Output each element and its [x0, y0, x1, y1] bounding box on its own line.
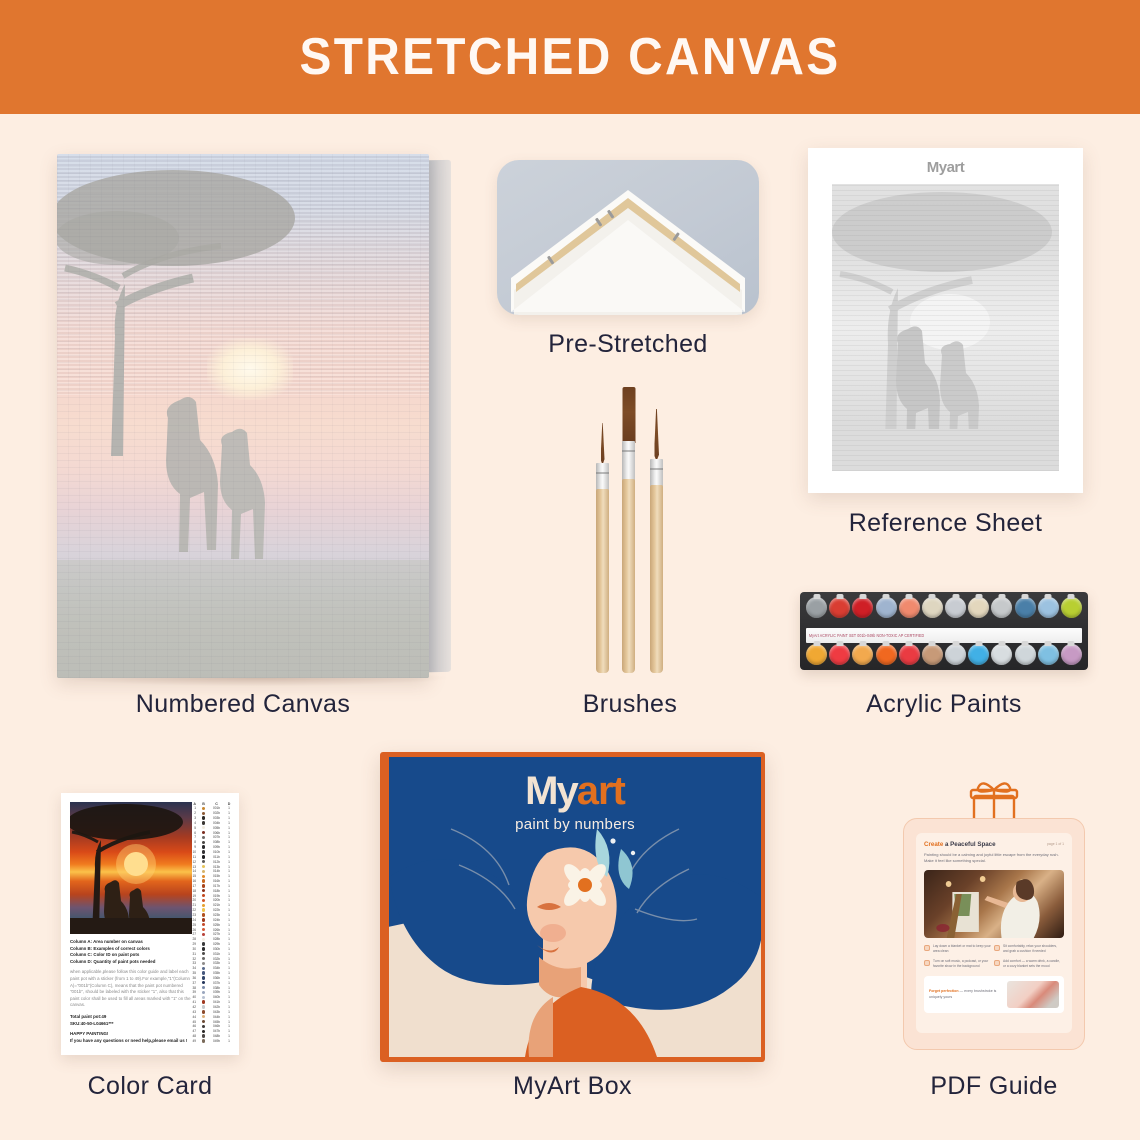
cc-quantity: 1 [227, 860, 231, 864]
cc-quantity: 1 [227, 821, 231, 825]
cc-color-swatch [201, 952, 206, 955]
cc-color-swatch [201, 981, 206, 984]
color-card-artwork [70, 802, 192, 934]
cc-color-id: 015b [211, 874, 222, 878]
cc-color-swatch [201, 986, 206, 989]
brush-round-medium [650, 409, 663, 673]
footer-accent: Forget perfection [929, 989, 959, 993]
cc-color-swatch [201, 865, 206, 868]
paint-pot [991, 597, 1012, 618]
caption-acrylic-paints: Acrylic Paints [800, 690, 1088, 719]
cc-color-id: 043b [211, 1010, 222, 1014]
cc-color-id: 030b [211, 947, 222, 951]
paint-pot [968, 644, 989, 665]
legend-column-b: Column B: Examples of correct colors [70, 946, 192, 953]
cc-quantity: 1 [227, 1024, 231, 1028]
paint-pot [1015, 597, 1036, 618]
paint-pot [1038, 597, 1059, 618]
acrylic-paints-image: MyArt ACRYLIC PAINT SET 001b-049b NON-TO… [800, 592, 1088, 670]
cc-area-number: 25 [191, 923, 196, 927]
paint-pot [899, 597, 920, 618]
cc-area-number: 14 [191, 869, 196, 873]
cc-color-id: 034b [211, 966, 222, 970]
pdf-guide-tip: Sit comfortably, relax your shoulders, a… [994, 944, 1064, 954]
legend-column-c: Column C: Color ID on paint pots [70, 952, 192, 959]
color-card-legend: Column A: Area number on canvas Column B… [70, 939, 192, 1045]
cc-quantity: 1 [227, 918, 231, 922]
cc-area-number: 8 [191, 840, 196, 844]
cc-color-id: 044b [211, 1015, 222, 1019]
paint-pot [922, 597, 943, 618]
cc-quantity: 1 [227, 952, 231, 956]
cc-color-id: 023b [211, 913, 222, 917]
cc-quantity: 1 [227, 1005, 231, 1009]
cc-color-id: 020b [211, 898, 222, 902]
cc-quantity: 1 [227, 986, 231, 990]
cc-color-id: 019b [211, 894, 222, 898]
paint-pot [806, 597, 827, 618]
logo-tagline: paint by numbers [389, 816, 761, 833]
cc-color-swatch [201, 947, 206, 950]
cc-quantity: 1 [227, 928, 231, 932]
cc-color-swatch [201, 860, 206, 863]
cc-area-number: 15 [191, 874, 196, 878]
cc-color-swatch [201, 971, 206, 974]
cc-area-number: 16 [191, 879, 196, 883]
canvas-wrapped-edge [429, 160, 451, 672]
tip-blanket-icon [924, 945, 930, 951]
pdf-guide-tip: Lay down a blanket or mat to keep your a… [924, 944, 994, 954]
cc-color-swatch [201, 913, 206, 916]
cc-quantity: 1 [227, 865, 231, 869]
pdf-guide-tips: Lay down a blanket or mat to keep your a… [924, 944, 1064, 974]
cc-color-swatch [201, 816, 206, 819]
cc-color-id: 002b [211, 811, 222, 815]
cc-quantity: 1 [227, 869, 231, 873]
cc-quantity: 1 [227, 1010, 231, 1014]
cc-color-id: 042b [211, 1005, 222, 1009]
paint-pot [922, 644, 943, 665]
cc-color-id: 022b [211, 908, 222, 912]
cc-color-id: 025b [211, 923, 222, 927]
cc-color-id: 014b [211, 869, 222, 873]
cc-quantity: 1 [227, 913, 231, 917]
cc-color-id: 006b [211, 831, 222, 835]
canvas-face [57, 154, 429, 678]
pre-stretched-image [497, 160, 759, 315]
cc-area-number: 18 [191, 889, 196, 893]
brush-flat-large [622, 387, 635, 673]
tip-posture-icon [994, 945, 1000, 951]
myart-box-front: Myart paint by numbers [389, 757, 761, 1057]
cc-color-swatch [201, 821, 206, 824]
pdf-guide-photo [924, 870, 1064, 938]
cc-color-id: 003b [211, 816, 222, 820]
total-paint-pots: Total paint pot:49 [70, 1014, 192, 1021]
logo-art-text: art [577, 769, 625, 813]
cc-quantity: 1 [227, 932, 231, 936]
brushes-image [578, 385, 682, 673]
cc-area-number: 11 [191, 855, 196, 859]
cc-color-id: 035b [211, 971, 222, 975]
cc-quantity: 1 [227, 937, 231, 941]
cc-color-swatch [201, 1005, 206, 1008]
cc-color-id: 024b [211, 918, 222, 922]
paint-tray-label-text: MyArt ACRYLIC PAINT SET 001b-049b NON-TO… [806, 633, 924, 638]
cc-color-id: 048b [211, 1034, 222, 1038]
cc-quantity: 1 [227, 1020, 231, 1024]
cc-quantity: 1 [227, 976, 231, 980]
cc-quantity: 1 [227, 1029, 231, 1033]
cc-quantity: 1 [227, 840, 231, 844]
logo-my-text: My [525, 769, 577, 813]
cc-color-swatch [201, 841, 206, 844]
cc-color-swatch [201, 831, 206, 834]
myart-box-logo: Myart paint by numbers [389, 769, 761, 833]
reference-sheet-image: Myart [808, 148, 1083, 493]
cc-color-id: 018b [211, 889, 222, 893]
cc-area-number: 22 [191, 908, 196, 912]
cc-color-id: 026b [211, 928, 222, 932]
pdf-guide-tip: Add comfort — a warm drink, a candle, or… [994, 959, 1064, 969]
cc-color-id: 039b [211, 990, 222, 994]
cc-quantity: 1 [227, 874, 231, 878]
pdf-guide-body: Painting should be a calming and joyful … [924, 852, 1064, 865]
color-card-table: A B C D 1001b12002b13003b14004b15005b160… [191, 802, 231, 1046]
cc-quantity: 1 [227, 894, 231, 898]
caption-pre-stretched: Pre-Stretched [497, 330, 759, 359]
cc-color-id: 017b [211, 884, 222, 888]
cc-color-swatch [201, 884, 206, 887]
cc-area-number: 19 [191, 894, 196, 898]
cc-quantity: 1 [227, 971, 231, 975]
cc-color-id: 012b [211, 860, 222, 864]
paint-pot [945, 644, 966, 665]
cc-quantity: 1 [227, 942, 231, 946]
cc-color-swatch [201, 1010, 206, 1013]
cc-quantity: 1 [227, 966, 231, 970]
paint-pot-row-bottom [806, 644, 1082, 674]
cc-color-swatch [201, 879, 206, 882]
paint-pot [1061, 644, 1082, 665]
paint-pot [1038, 644, 1059, 665]
brush-round-small [596, 423, 609, 673]
paint-pot [829, 644, 850, 665]
cc-color-swatch [201, 933, 206, 936]
cc-color-id: 013b [211, 865, 222, 869]
cc-quantity: 1 [227, 811, 231, 815]
page-header: STRETCHED CANVAS [0, 0, 1140, 114]
cc-color-swatch [201, 1020, 206, 1023]
pdf-guide-footer-photo [1007, 981, 1059, 1008]
cc-area-number: 2 [191, 811, 196, 815]
cc-quantity: 1 [227, 889, 231, 893]
cc-color-id: 007b [211, 835, 222, 839]
cc-color-swatch [201, 812, 206, 815]
reference-sheet-texture [832, 184, 1059, 471]
cc-quantity: 1 [227, 806, 231, 810]
gift-icon [966, 781, 1022, 821]
cc-color-swatch [201, 942, 206, 945]
tip-text: Add comfort — a warm drink, a candle, or… [1003, 959, 1061, 969]
legend-column-a: Column A: Area number on canvas [70, 939, 192, 946]
cc-color-swatch [201, 918, 206, 921]
cc-color-swatch [201, 855, 206, 858]
cc-area-number: 17 [191, 884, 196, 888]
cc-color-swatch [201, 1039, 206, 1042]
paint-pot-row-top [806, 597, 1082, 627]
cc-color-id: 028b [211, 937, 222, 941]
cc-color-id: 037b [211, 981, 222, 985]
cc-color-swatch [201, 938, 206, 941]
cc-color-id: 036b [211, 976, 222, 980]
cc-area-number: 5 [191, 826, 196, 830]
canvas-number-regions [57, 154, 429, 678]
cc-color-swatch [201, 1034, 206, 1037]
contact-text: If you have any questions or need help,p… [70, 1038, 192, 1045]
cc-color-swatch [201, 904, 206, 907]
cc-quantity: 1 [227, 835, 231, 839]
tip-text: Turn on soft music, a podcast, or your f… [933, 959, 991, 969]
cc-quantity: 1 [227, 850, 231, 854]
caption-brushes: Brushes [528, 690, 732, 719]
cc-color-id: 010b [211, 850, 222, 854]
cc-color-id: 033b [211, 961, 222, 965]
cc-color-id: 001b [211, 806, 222, 810]
reference-sheet-logo: Myart [808, 159, 1083, 176]
paint-pot [945, 597, 966, 618]
cc-color-id: 047b [211, 1029, 222, 1033]
cc-color-swatch [201, 962, 206, 965]
caption-numbered-canvas: Numbered Canvas [57, 690, 429, 719]
cc-quantity: 1 [227, 923, 231, 927]
cc-quantity: 1 [227, 957, 231, 961]
cc-quantity: 1 [227, 898, 231, 902]
caption-reference-sheet: Reference Sheet [808, 509, 1083, 538]
cc-color-swatch [201, 923, 206, 926]
cc-area-number: 24 [191, 918, 196, 922]
paint-pot [991, 644, 1012, 665]
caption-color-card: Color Card [40, 1072, 260, 1101]
paint-pot [829, 597, 850, 618]
cc-quantity: 1 [227, 990, 231, 994]
pdf-guide-footer: Forget perfection — every brushstroke is… [924, 976, 1064, 1013]
color-card-row: 49049b1 [191, 1039, 231, 1044]
cc-area-number: 4 [191, 821, 196, 825]
cc-area-number: 7 [191, 835, 196, 839]
happy-painting-text: HAPPY PAINTING! [70, 1031, 192, 1038]
cc-quantity: 1 [227, 879, 231, 883]
cc-quantity: 1 [227, 908, 231, 912]
cc-color-swatch [201, 976, 206, 979]
pdf-guide-title: Create a Peaceful Space [924, 841, 1064, 848]
cc-color-id: 021b [211, 903, 222, 907]
cc-quantity: 1 [227, 1034, 231, 1038]
cc-color-swatch [201, 1015, 206, 1018]
cc-color-swatch [201, 836, 206, 839]
page-title: STRETCHED CANVAS [300, 27, 841, 87]
cc-color-swatch [201, 967, 206, 970]
pdf-guide-image: page 1 of 1 Create a Peaceful Space Pain… [903, 818, 1085, 1050]
tip-text: Sit comfortably, relax your shoulders, a… [1003, 944, 1061, 954]
caption-pdf-guide: PDF Guide [903, 1072, 1085, 1101]
paint-pot [852, 644, 873, 665]
cc-quantity: 1 [227, 855, 231, 859]
cc-color-id: 046b [211, 1024, 222, 1028]
cc-color-id: 005b [211, 826, 222, 830]
cc-color-id: 009b [211, 845, 222, 849]
cc-color-swatch [201, 807, 206, 810]
pdf-guide-title-rest: a Peaceful Space [943, 841, 995, 848]
cc-area-number: 9 [191, 845, 196, 849]
cc-color-swatch [201, 845, 206, 848]
cc-color-swatch [201, 899, 206, 902]
cc-area-number: 6 [191, 831, 196, 835]
cc-color-id: 041b [211, 1000, 222, 1004]
cc-quantity: 1 [227, 816, 231, 820]
paint-tray-label-strip: MyArt ACRYLIC PAINT SET 001b-049b NON-TO… [806, 628, 1082, 643]
cc-color-swatch [201, 875, 206, 878]
cc-quantity: 1 [227, 995, 231, 999]
cc-color-id: 016b [211, 879, 222, 883]
color-card-note: when applicable,please follow this color… [70, 969, 192, 1009]
paint-pot [1015, 644, 1036, 665]
cc-quantity: 1 [227, 845, 231, 849]
myart-box-image: Myart paint by numbers [380, 752, 765, 1062]
cc-color-swatch [201, 1030, 206, 1033]
cc-color-id: 038b [211, 986, 222, 990]
cc-quantity: 1 [227, 981, 231, 985]
cc-area-number: 27 [191, 932, 196, 936]
cc-color-id: 008b [211, 840, 222, 844]
legend-column-d: Column D: Quantity of paint pots needed [70, 959, 192, 966]
paint-pot [899, 644, 920, 665]
canvas-corner-illustration [497, 160, 759, 315]
cc-area-number: 1 [191, 806, 196, 810]
pdf-guide-footer-text: Forget perfection — every brushstroke is… [929, 989, 1002, 1000]
pdf-guide-page-number: page 1 of 1 [1047, 842, 1064, 846]
tip-music-icon [924, 960, 930, 966]
tip-text: Lay down a blanket or mat to keep your a… [933, 944, 991, 954]
cc-color-swatch [201, 850, 206, 853]
cc-color-swatch [201, 889, 206, 892]
cc-color-swatch [201, 894, 206, 897]
cc-quantity: 1 [227, 1000, 231, 1004]
cc-color-swatch [201, 908, 206, 911]
cc-area-number: 10 [191, 850, 196, 854]
numbered-canvas-image [57, 154, 455, 678]
pdf-guide-page: page 1 of 1 Create a Peaceful Space Pain… [916, 833, 1072, 1033]
paint-pot [876, 597, 897, 618]
sku-text: SKU:40-50-L04661*** [70, 1021, 192, 1028]
cc-quantity: 1 [227, 826, 231, 830]
cc-quantity: 1 [227, 831, 231, 835]
paint-pot [852, 597, 873, 618]
caption-myart-box: MyArt Box [380, 1072, 765, 1101]
cc-quantity: 1 [227, 947, 231, 951]
cc-area-number: 12 [191, 860, 196, 864]
cc-color-id: 031b [211, 952, 222, 956]
cc-color-swatch [201, 991, 206, 994]
cc-quantity: 1 [227, 1039, 231, 1043]
cc-color-swatch [201, 1000, 206, 1003]
paint-pot [876, 644, 897, 665]
cc-color-swatch [201, 957, 206, 960]
cc-color-id: 049b [211, 1039, 222, 1043]
cc-color-id: 027b [211, 932, 222, 936]
cc-area-number: 3 [191, 816, 196, 820]
cc-color-swatch [201, 928, 206, 931]
cc-quantity: 1 [227, 884, 231, 888]
cc-color-id: 011b [211, 855, 222, 859]
cc-area-number: 20 [191, 898, 196, 902]
paint-pot [1061, 597, 1082, 618]
cc-color-id: 040b [211, 995, 222, 999]
cc-quantity: 1 [227, 961, 231, 965]
cc-color-id: 032b [211, 957, 222, 961]
cc-color-swatch [201, 1025, 206, 1028]
cc-color-swatch [201, 996, 206, 999]
cc-area-number: 26 [191, 928, 196, 932]
cc-color-id: 004b [211, 821, 222, 825]
tip-comfort-icon [994, 960, 1000, 966]
cc-color-swatch [201, 826, 206, 829]
paint-pot [806, 644, 827, 665]
cc-color-swatch [201, 870, 206, 873]
color-card-image: A B C D 1001b12002b13003b14004b15005b160… [61, 793, 239, 1055]
paint-pot [968, 597, 989, 618]
cc-color-id: 045b [211, 1020, 222, 1024]
pdf-guide-title-accent: Create [924, 841, 943, 848]
cc-quantity: 1 [227, 903, 231, 907]
reference-sheet-artwork [832, 184, 1059, 471]
cc-area-number: 21 [191, 903, 196, 907]
cc-quantity: 1 [227, 1015, 231, 1019]
cc-color-id: 029b [211, 942, 222, 946]
cc-area-number: 13 [191, 865, 196, 869]
cc-area-number: 23 [191, 913, 196, 917]
pdf-guide-tip: Turn on soft music, a podcast, or your f… [924, 959, 994, 969]
